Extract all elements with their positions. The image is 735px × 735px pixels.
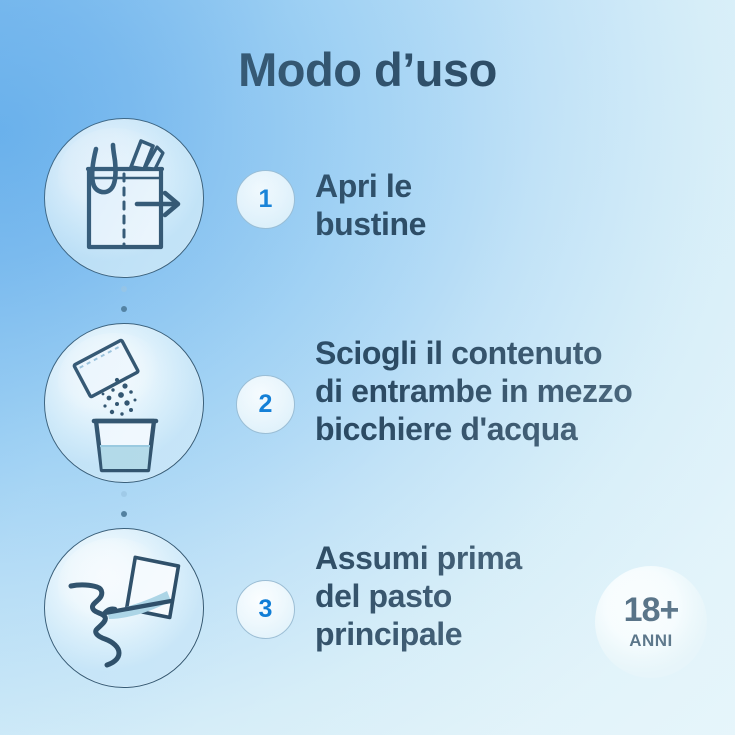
step-number-1: 1 <box>236 170 295 229</box>
connector-dot <box>121 286 127 292</box>
step-number-3: 3 <box>236 580 295 639</box>
connector-dot <box>121 511 127 517</box>
step-3-icon-wrap <box>44 528 204 688</box>
age-badge-unit: ANNI <box>629 631 673 651</box>
step-2-icon-wrap <box>44 323 204 483</box>
step-text-3: Assumi prima del pasto principale <box>315 540 522 653</box>
step-item-2: 2 Sciogli il contenuto di entrambe in me… <box>0 323 735 528</box>
step-item-1: 1 Apri le bustine <box>0 118 735 323</box>
step-text-2: Sciogli il contenuto di entrambe in mezz… <box>315 335 632 448</box>
step-1-icon-wrap <box>44 118 204 278</box>
step-number-2: 2 <box>236 375 295 434</box>
age-badge-value: 18+ <box>624 593 679 627</box>
connector-dot <box>121 306 127 312</box>
age-badge: 18+ ANNI <box>595 566 707 678</box>
connector-dot <box>121 491 127 497</box>
open-sachet-icon <box>44 118 204 278</box>
page-title: Modo d’uso <box>0 42 735 97</box>
step-text-1: Apri le bustine <box>315 168 426 244</box>
drink-from-glass-icon <box>44 528 204 688</box>
pour-sachet-into-glass-icon <box>44 323 204 483</box>
infographic-poster: Modo d’uso <box>0 0 735 735</box>
